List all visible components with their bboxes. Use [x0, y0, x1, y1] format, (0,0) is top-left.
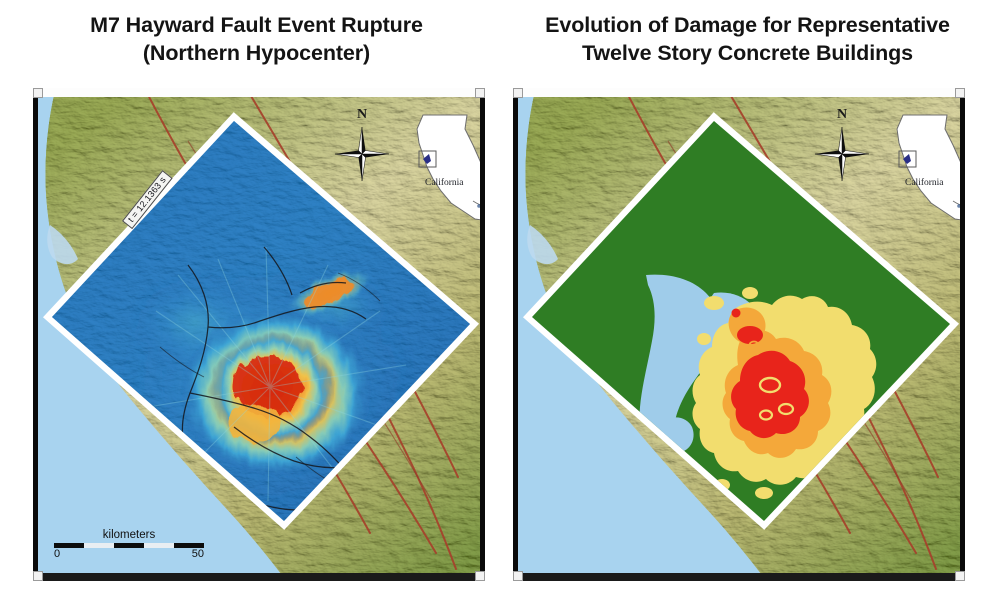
panel-right-corner-tl: [513, 88, 523, 98]
california-outline-icon: [873, 111, 960, 226]
panel-right-left-strip: [513, 98, 518, 571]
title-left-line2: (Northern Hypocenter): [14, 40, 499, 68]
panel-left-corner-tl: [33, 88, 43, 98]
map-panel-left: N: [33, 88, 485, 581]
california-inset-left: California: [393, 111, 480, 226]
panel-left-left-strip: [33, 98, 38, 571]
panel-right-corner-br: [955, 571, 965, 581]
title-left-line1: M7 Hayward Fault Event Rupture: [14, 12, 499, 40]
wavefield-hotspot: [180, 309, 372, 477]
panel-left-corner-br: [475, 571, 485, 581]
california-inset-label: California: [425, 178, 464, 188]
panel-left-right-strip: [480, 98, 485, 571]
figure-root: M7 Hayward Fault Event Rupture (Northern…: [0, 0, 998, 599]
panel-left-bottom-strip: [43, 573, 475, 581]
california-outline-icon: [393, 111, 480, 226]
scale-bar-ticks: 0 50: [54, 548, 204, 561]
title-right-line2: Twelve Story Concrete Buildings: [505, 40, 990, 68]
scale-max-label: 50: [192, 548, 204, 560]
panel-right-top-strip: [523, 88, 955, 97]
damage-core-point: [732, 309, 741, 318]
panel-right-corner-bl: [513, 571, 523, 581]
title-right-line1: Evolution of Damage for Representative: [505, 12, 990, 40]
page-title-left: M7 Hayward Fault Event Rupture (Northern…: [14, 12, 499, 68]
panel-right-bottom-strip: [523, 573, 955, 581]
panel-right-right-strip: [960, 98, 965, 571]
map-canvas-right[interactable]: N: [518, 97, 960, 573]
california-inset-right: California: [873, 111, 960, 226]
map-panel-right: N: [513, 88, 965, 581]
damage-core-north: [737, 326, 763, 344]
map-canvas-left[interactable]: N: [38, 97, 480, 573]
panel-left-corner-bl: [33, 571, 43, 581]
panel-left-top-strip: [43, 88, 475, 97]
scale-bar-caption: kilometers: [54, 529, 204, 541]
panel-left-corner-tr: [475, 88, 485, 98]
panel-right-corner-tr: [955, 88, 965, 98]
page-title-right: Evolution of Damage for Representative T…: [505, 12, 990, 68]
scale-min-label: 0: [54, 548, 60, 560]
scale-bar: kilometers 0 50: [54, 529, 204, 561]
california-inset-label-right: California: [905, 178, 944, 188]
